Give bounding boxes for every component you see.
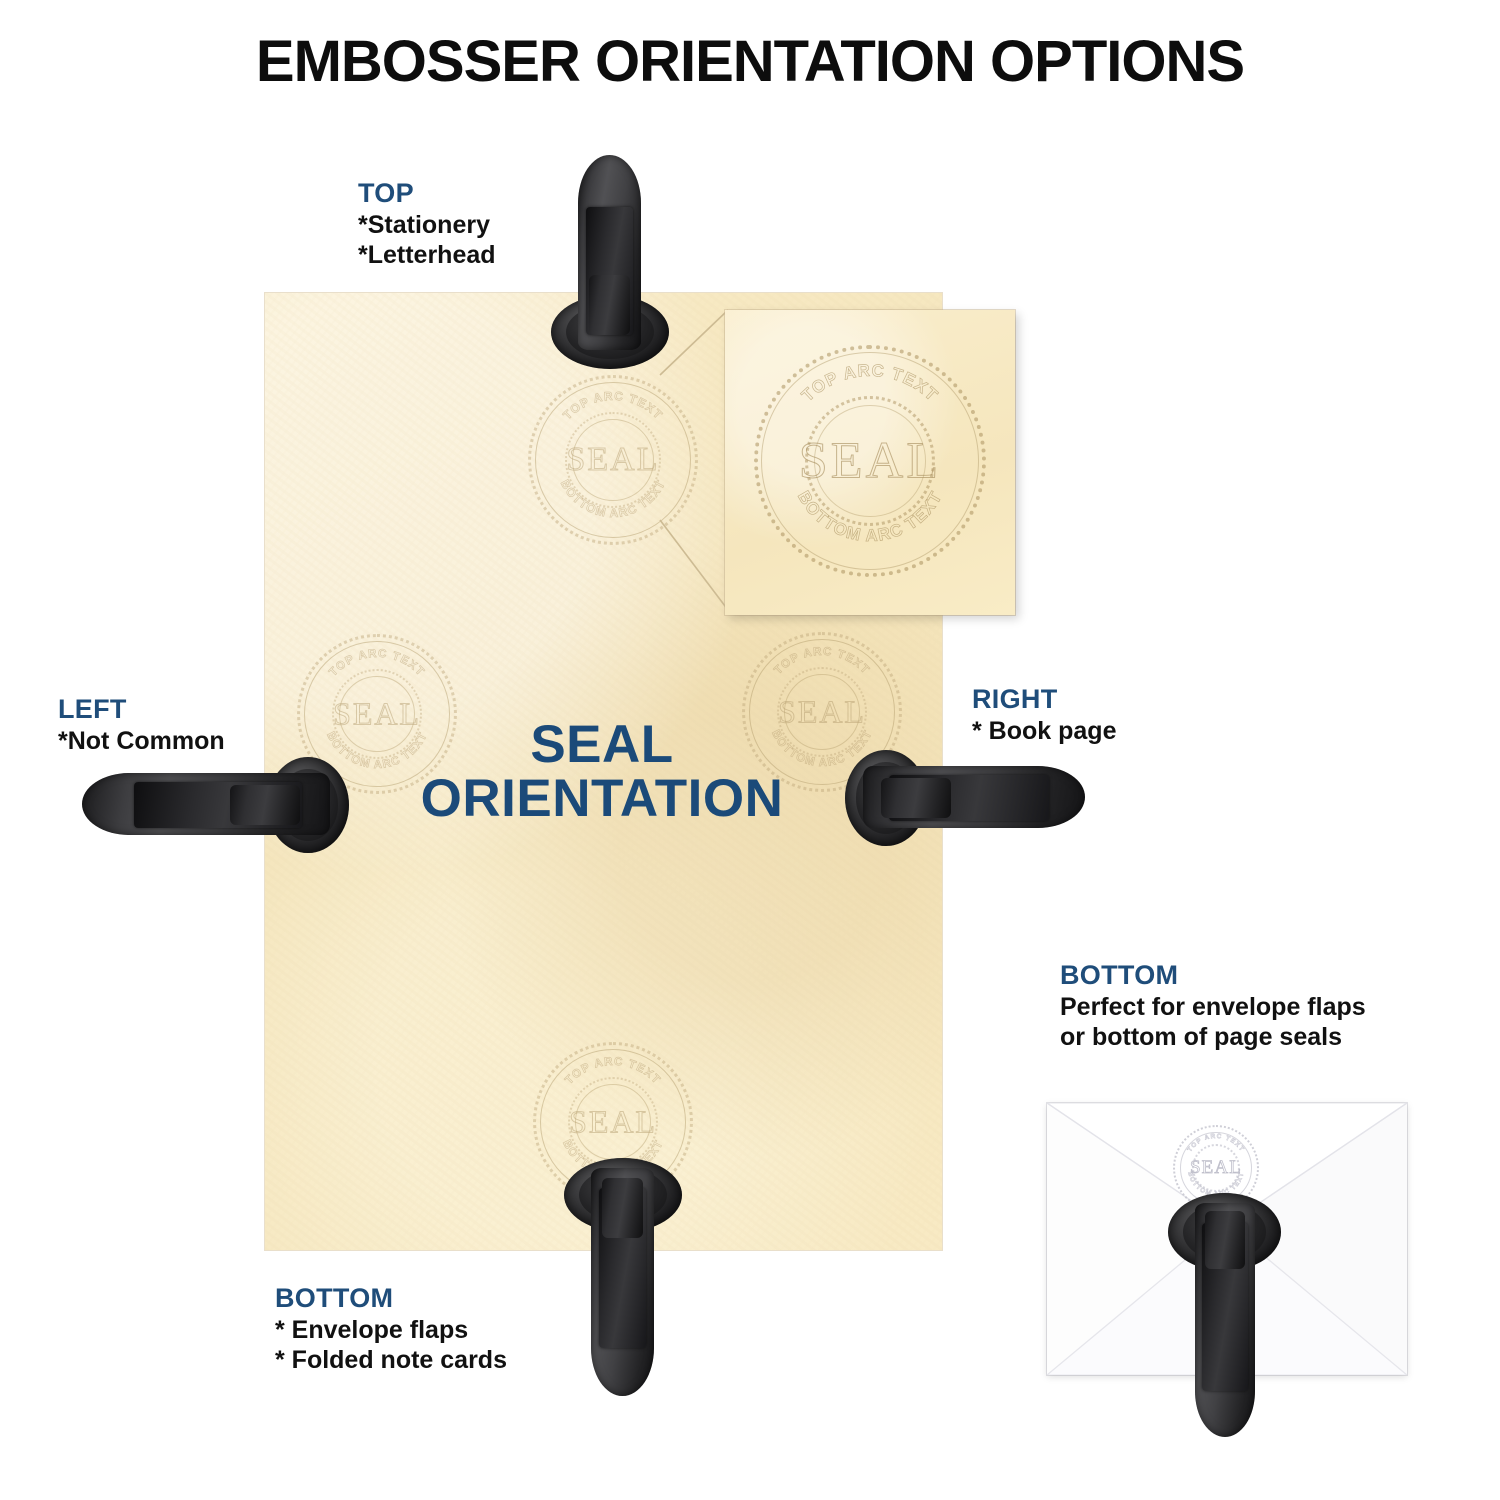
label-top: TOP *Stationery *Letterhead — [358, 178, 496, 271]
embosser-tool-bottom[interactable] — [558, 1148, 688, 1398]
label-bottom-right-line-2: or bottom of page seals — [1060, 1022, 1366, 1053]
label-bottom-right: BOTTOM Perfect for envelope flaps or bot… — [1060, 960, 1366, 1053]
label-bottom-right-line-1: Perfect for envelope flaps — [1060, 992, 1366, 1023]
label-bottom-left-line-1: * Envelope flaps — [275, 1315, 507, 1346]
embosser-neck — [1205, 1211, 1245, 1269]
label-bottom-left-heading: BOTTOM — [275, 1283, 507, 1315]
label-top-heading: TOP — [358, 178, 496, 210]
label-right-heading: RIGHT — [972, 684, 1116, 716]
embosser-tool-top[interactable] — [545, 155, 675, 370]
svg-text:BOTTOM ARC TEXT: BOTTOM ARC TEXT — [794, 488, 946, 545]
seal-outer-dotted-ring — [754, 345, 986, 577]
seal-imprint-magnified: TOP ARC TEXT BOTTOM ARC TEXT SEAL — [754, 345, 986, 577]
svg-text:TOP ARC TEXT: TOP ARC TEXT — [798, 361, 942, 406]
label-top-line-1: *Stationery — [358, 210, 496, 241]
seal-inner-dotted-ring — [805, 396, 935, 526]
seal-outer-ring — [761, 352, 979, 570]
seal-inner-ring — [814, 405, 925, 516]
label-bottom-left-line-2: * Folded note cards — [275, 1345, 507, 1376]
page-title: EMBOSSER ORIENTATION OPTIONS — [0, 28, 1500, 95]
label-bottom-left: BOTTOM * Envelope flaps * Folded note ca… — [275, 1283, 507, 1376]
label-right: RIGHT * Book page — [972, 684, 1116, 746]
center-caption: SEAL ORIENTATION — [352, 718, 852, 826]
label-left: LEFT *Not Common — [58, 694, 225, 756]
label-right-line-1: * Book page — [972, 716, 1116, 747]
seal-center-word: SEAL — [754, 432, 986, 491]
seal-top-arc-text: TOP ARC TEXT — [798, 361, 942, 406]
embosser-tool-left[interactable] — [82, 755, 352, 855]
seal-bottom-arc-text: BOTTOM ARC TEXT — [794, 488, 946, 545]
label-left-line-1: *Not Common — [58, 726, 225, 757]
embosser-tool-envelope[interactable] — [1168, 1185, 1288, 1440]
embosser-tool-right[interactable] — [845, 748, 1085, 848]
magnifier-callout-box: TOP ARC TEXT BOTTOM ARC TEXT SEAL — [725, 310, 1015, 615]
embosser-neck — [602, 1178, 643, 1238]
center-caption-line1: SEAL — [352, 718, 852, 772]
label-top-line-2: *Letterhead — [358, 240, 496, 271]
embosser-neck — [589, 275, 630, 335]
label-bottom-right-heading: BOTTOM — [1060, 960, 1366, 992]
center-caption-line2: ORIENTATION — [352, 772, 852, 826]
embosser-neck — [230, 785, 300, 825]
embosser-neck — [881, 778, 951, 818]
label-left-heading: LEFT — [58, 694, 225, 726]
seal-arc-text-group: TOP ARC TEXT BOTTOM ARC TEXT — [754, 345, 986, 577]
